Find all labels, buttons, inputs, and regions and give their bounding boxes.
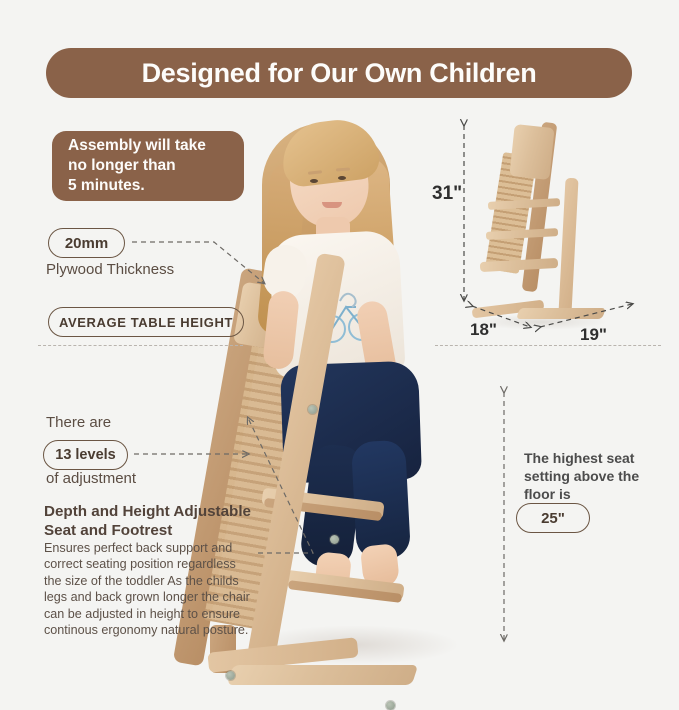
adjustable-seat-body: Ensures perfect back support and correct… bbox=[44, 540, 254, 638]
adjustment-levels-pill: 13 levels bbox=[43, 440, 128, 470]
child-eye-left bbox=[310, 179, 318, 183]
plywood-thickness-pill: 20mm bbox=[48, 228, 125, 258]
highest-seat-note: The highest seat setting above the floor… bbox=[524, 449, 664, 503]
assembly-line-2: no longer than bbox=[68, 156, 244, 176]
chair-screw-upper bbox=[308, 405, 317, 414]
product-base-right bbox=[516, 308, 606, 319]
child-mouth bbox=[322, 202, 342, 208]
product-backrest bbox=[509, 124, 554, 180]
assembly-line-3: 5 minutes. bbox=[68, 176, 244, 196]
plywood-thickness-label: Plywood Thickness bbox=[46, 261, 174, 278]
page-title-banner: Designed for Our Own Children bbox=[46, 48, 632, 98]
average-table-height-pill: AVERAGE TABLE HEIGHT bbox=[48, 307, 244, 337]
child-hair-top bbox=[279, 115, 382, 188]
levels-suffix-label: of adjustment bbox=[46, 470, 136, 487]
levels-prefix-label: There are bbox=[46, 414, 111, 431]
dimension-depth-label: 18" bbox=[470, 320, 497, 340]
product-right-leg bbox=[558, 178, 578, 314]
chair-screw-lower bbox=[386, 701, 395, 710]
divider-right bbox=[435, 345, 661, 346]
divider-left bbox=[38, 345, 243, 346]
assembly-line-1: Assembly will take bbox=[68, 136, 244, 156]
child-eye-right bbox=[338, 176, 346, 180]
highest-seat-pill: 25" bbox=[516, 503, 590, 533]
infographic-canvas: Designed for Our Own Children bbox=[0, 0, 679, 679]
chair-base-right bbox=[227, 665, 418, 685]
dimension-width-label: 19" bbox=[580, 325, 607, 345]
product-chair-illustration bbox=[470, 118, 630, 308]
assembly-time-badge: Assembly will take no longer than 5 minu… bbox=[52, 131, 244, 201]
chair-screw-mid bbox=[330, 535, 339, 544]
dimension-height-label: 31" bbox=[432, 183, 462, 205]
adjustable-seat-heading: Depth and Height Adjustable Seat and Foo… bbox=[44, 503, 259, 540]
page-title: Designed for Our Own Children bbox=[142, 58, 537, 89]
